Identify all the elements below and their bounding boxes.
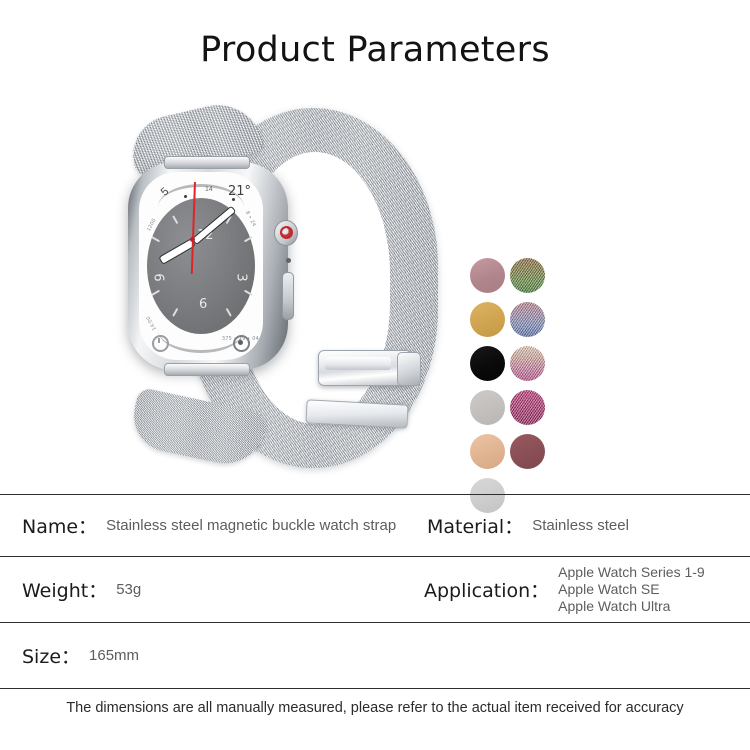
- product-image: 5 14 21° 1200 8 • 24 14:00 375 • 19 • 04…: [0, 95, 750, 485]
- color-swatch-grid[interactable]: [470, 258, 570, 508]
- color-swatch-cream-pink-mesh[interactable]: [510, 346, 545, 381]
- spec-label-application: Application：: [424, 576, 549, 603]
- spec-label-material: Material：: [427, 512, 523, 539]
- application-line: Apple Watch Series 1-9: [558, 564, 705, 581]
- apple-watch: 5 14 21° 1200 8 • 24 14:00 375 • 19 • 04…: [128, 162, 288, 370]
- dial-tick: [244, 290, 253, 296]
- clasp-tab: [397, 352, 421, 386]
- dial-micro-text-right-top: 8 • 24: [244, 210, 257, 228]
- watch-lug-bottom: [164, 363, 250, 376]
- side-button: [282, 272, 294, 320]
- color-swatch-olive-green-mesh[interactable]: [510, 258, 545, 293]
- spec-cell-weight: Weight： 53g: [22, 556, 141, 622]
- watch-dial: 12 3 6 9: [147, 198, 255, 334]
- complication-dot-left: [184, 195, 187, 198]
- complication-top-right: 14: [205, 186, 213, 193]
- microphone-port: [286, 258, 291, 263]
- spec-label-name: Name：: [22, 512, 97, 539]
- color-swatch-black[interactable]: [470, 346, 505, 381]
- measurement-disclaimer: The dimensions are all manually measured…: [0, 700, 750, 716]
- spec-cell-name: Name： Stainless steel magnetic buckle wa…: [22, 494, 396, 556]
- spec-cell-size: Size： 165mm: [22, 622, 139, 688]
- spec-value-size: 165mm: [89, 647, 139, 664]
- watch-screen: 5 14 21° 1200 8 • 24 14:00 375 • 19 • 04…: [139, 172, 263, 360]
- dial-tick: [244, 236, 253, 242]
- dial-numeral-9: 9: [154, 273, 169, 281]
- application-line: Apple Watch Ultra: [558, 598, 705, 615]
- color-swatch-pink-blue-mesh[interactable]: [510, 302, 545, 337]
- color-swatch-magenta-mesh[interactable]: [510, 390, 545, 425]
- dial-numeral-6: 6: [199, 297, 207, 312]
- color-swatch-gold-tan[interactable]: [470, 302, 505, 337]
- dial-numeral-3: 3: [233, 273, 248, 281]
- temperature-label: 21°: [228, 184, 251, 199]
- color-swatch-light-grey[interactable]: [470, 390, 505, 425]
- compass-complication-icon: [233, 335, 250, 352]
- spec-value-weight: 53g: [116, 581, 141, 598]
- table-row: Size： 165mm: [0, 622, 750, 688]
- hand-center-pin: [190, 237, 195, 242]
- spec-value-material: Stainless steel: [532, 517, 629, 534]
- page-title: Product Parameters: [0, 30, 750, 70]
- dial-tick: [226, 308, 232, 317]
- color-swatch-peach-tan[interactable]: [470, 434, 505, 469]
- color-swatch-wine-mauve[interactable]: [510, 434, 545, 469]
- dial-tick: [172, 308, 178, 317]
- dial-micro-text-left-bottom: 14:00: [145, 315, 158, 331]
- color-swatch-dusty-rose[interactable]: [470, 258, 505, 293]
- application-line: Apple Watch SE: [558, 581, 705, 598]
- spec-value-application: Apple Watch Series 1-9 Apple Watch SE Ap…: [558, 564, 705, 615]
- dial-tick: [151, 236, 160, 242]
- spec-cell-material: Material： Stainless steel: [427, 494, 629, 556]
- table-row: Name： Stainless steel magnetic buckle wa…: [0, 494, 750, 556]
- table-row: Weight： 53g Application： Apple Watch Ser…: [0, 556, 750, 622]
- dial-tick: [172, 215, 178, 224]
- spec-label-size: Size：: [22, 642, 80, 669]
- table-rule-3: [0, 688, 750, 689]
- watch-with-strap: 5 14 21° 1200 8 • 24 14:00 375 • 19 • 04…: [128, 100, 448, 480]
- activity-complication-icon: [152, 335, 169, 352]
- magnetic-clasp: [318, 350, 412, 386]
- watch-lug-top: [164, 156, 250, 169]
- dial-tick: [151, 290, 160, 296]
- spec-value-name: Stainless steel magnetic buckle watch st…: [106, 517, 396, 534]
- digital-crown: [274, 220, 298, 246]
- spec-cell-application: Application： Apple Watch Series 1-9 Appl…: [424, 556, 705, 622]
- spec-label-weight: Weight：: [22, 576, 107, 603]
